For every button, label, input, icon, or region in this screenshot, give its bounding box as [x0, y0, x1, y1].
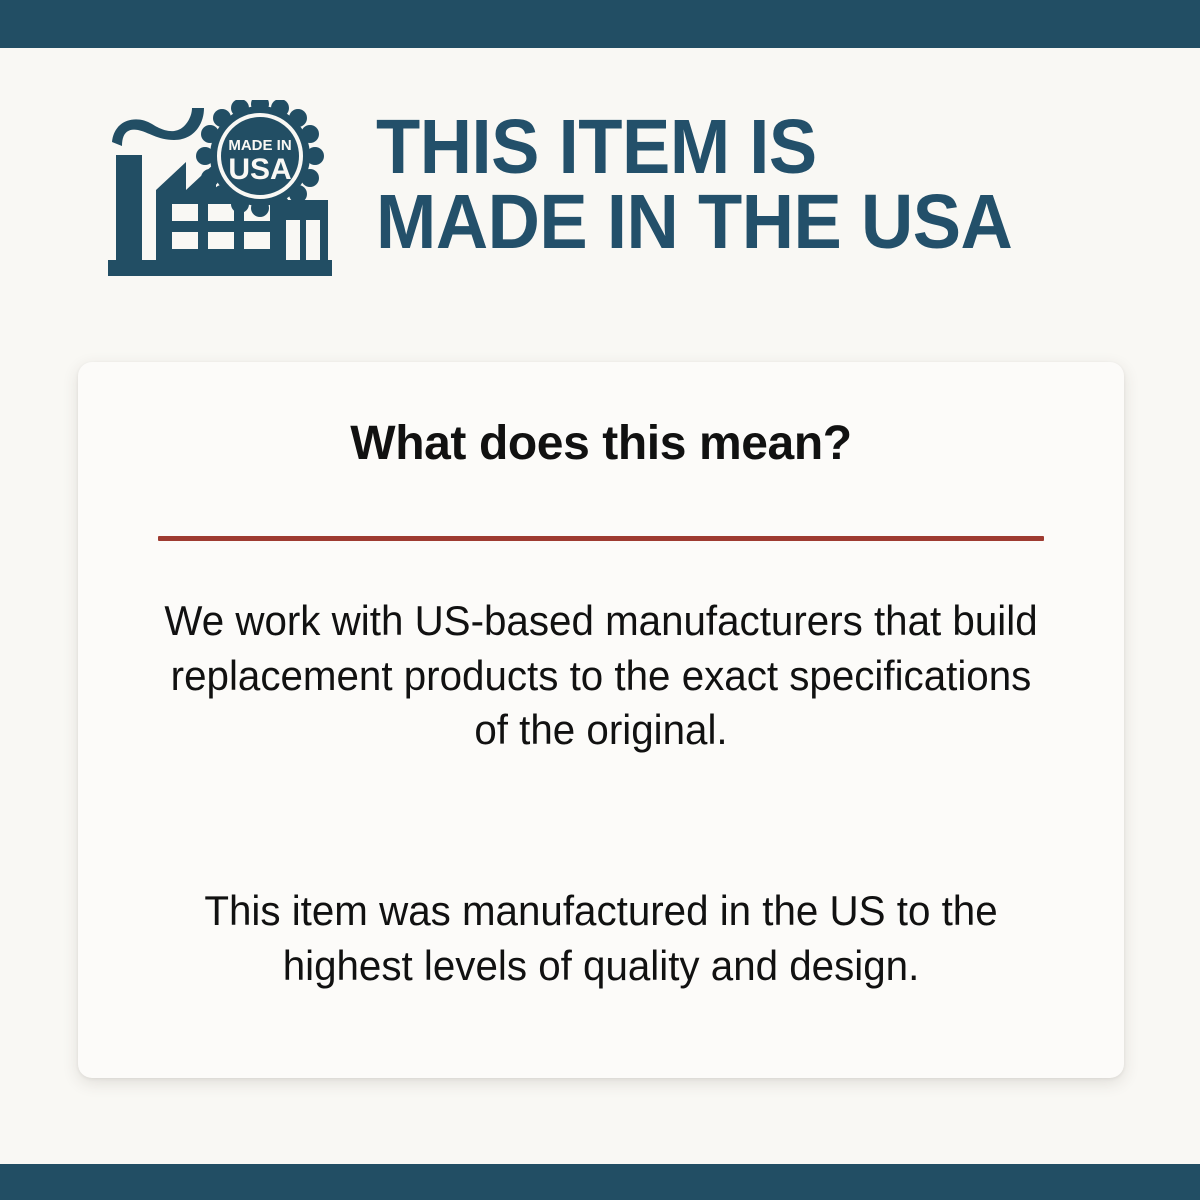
- card-paragraph-2: This item was manufactured in the US to …: [158, 884, 1043, 993]
- factory-logo: MADE IN USA: [100, 100, 340, 290]
- factory-icon: MADE IN USA: [100, 100, 340, 290]
- smoke-plume-icon: [112, 108, 204, 146]
- bottom-band: [0, 1164, 1200, 1200]
- seal-line2: USA: [228, 153, 291, 186]
- top-band: [0, 0, 1200, 48]
- made-in-usa-seal-icon: MADE IN USA: [196, 100, 324, 217]
- card-heading: What does this mean?: [78, 418, 1124, 471]
- factory-base-icon: [108, 260, 332, 276]
- window-icon: [208, 232, 234, 249]
- window-icon: [172, 232, 198, 249]
- title-line-1: THIS ITEM IS: [376, 110, 1104, 185]
- card-paragraph-1: We work with US-based manufacturers that…: [158, 594, 1043, 758]
- info-card: What does this mean? We work with US-bas…: [78, 362, 1124, 1078]
- accent-divider: [158, 536, 1044, 541]
- window-icon: [208, 204, 234, 221]
- window-icon: [244, 232, 270, 249]
- seal-line1: MADE IN: [228, 137, 291, 154]
- header: MADE IN USA THIS ITEM IS MADE IN THE USA: [100, 100, 1150, 292]
- page-title: THIS ITEM IS MADE IN THE USA: [376, 100, 1150, 259]
- smokestack-icon: [116, 155, 142, 260]
- door-panel-icon: [306, 220, 320, 260]
- title-line-2: MADE IN THE USA: [376, 185, 1104, 260]
- page-body: MADE IN USA THIS ITEM IS MADE IN THE USA…: [0, 48, 1200, 1164]
- door-panel-icon: [286, 220, 300, 260]
- window-icon: [172, 204, 198, 221]
